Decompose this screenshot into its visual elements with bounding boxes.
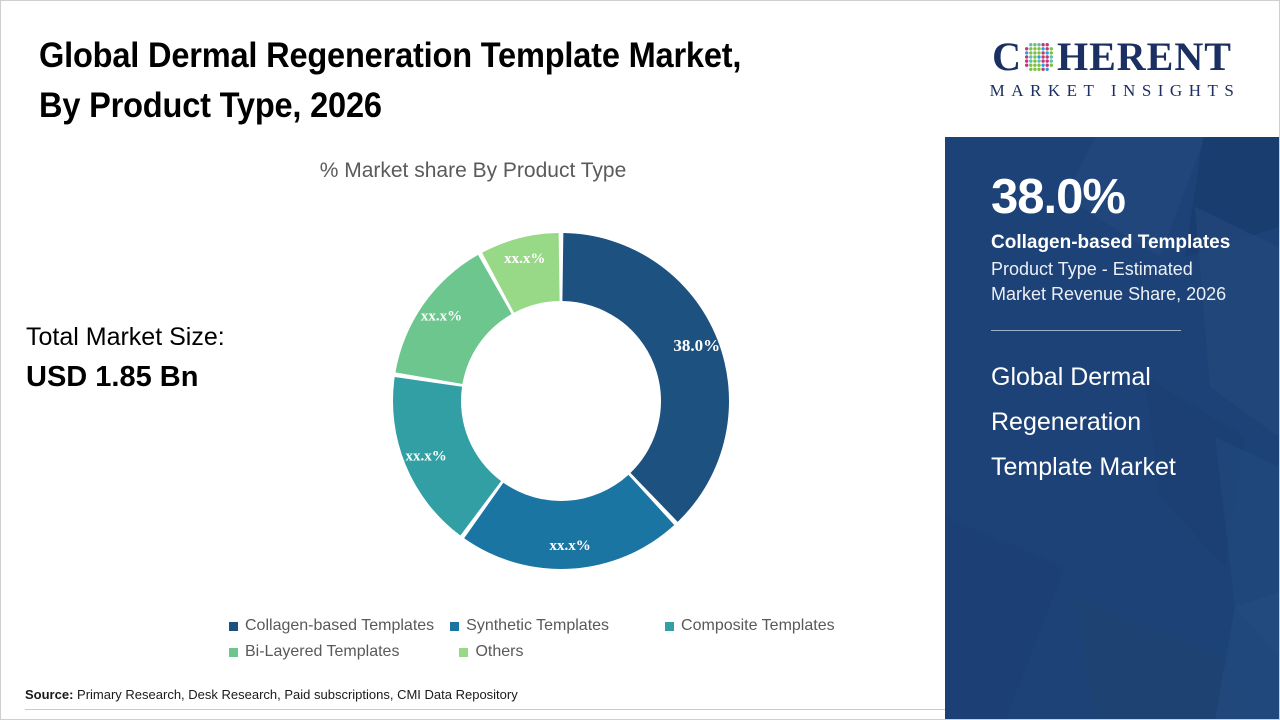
globe-icon bbox=[1022, 40, 1056, 74]
legend-swatch-icon bbox=[665, 622, 674, 631]
brand-name-rest: HERENT bbox=[1057, 37, 1232, 77]
legend-swatch-icon bbox=[229, 622, 238, 631]
donut-slice[interactable] bbox=[562, 233, 729, 522]
legend-row-1: Collagen-based Templates Synthetic Templ… bbox=[229, 617, 909, 635]
source-text: Primary Research, Desk Research, Paid su… bbox=[73, 687, 517, 702]
legend-label: Synthetic Templates bbox=[466, 617, 609, 635]
chart-legend: Collagen-based Templates Synthetic Templ… bbox=[229, 617, 909, 669]
legend-item-composite-templates[interactable]: Composite Templates bbox=[665, 617, 835, 635]
total-market-size-label: Total Market Size: bbox=[26, 323, 225, 352]
donut-slice-label: 38.0% bbox=[673, 336, 720, 355]
panel-percentage: 38.0% bbox=[991, 173, 1247, 222]
legend-item-synthetic-templates[interactable]: Synthetic Templates bbox=[450, 617, 609, 635]
highlight-panel: 38.0% Collagen-based Templates Product T… bbox=[945, 137, 1279, 719]
brand-tagline: MARKET INSIGHTS bbox=[984, 81, 1241, 101]
legend-swatch-icon bbox=[459, 648, 468, 657]
source-note: Source: Primary Research, Desk Research,… bbox=[25, 687, 945, 702]
legend-label: Composite Templates bbox=[681, 617, 835, 635]
side-panel: C HERENT MARKET INSIGHTS 38.0 bbox=[945, 1, 1279, 719]
legend-label: Collagen-based Templates bbox=[245, 617, 434, 635]
legend-row-2: Bi-Layered Templates Others bbox=[229, 643, 909, 661]
chart-subtitle: % Market share By Product Type bbox=[1, 159, 945, 183]
legend-label: Bi-Layered Templates bbox=[245, 643, 399, 661]
donut-chart: 38.0%xx.x%xx.x%xx.x%xx.x% bbox=[391, 231, 731, 571]
panel-market-name: Global Dermal Regeneration Template Mark… bbox=[991, 355, 1247, 490]
donut-slice-label: xx.x% bbox=[405, 448, 446, 464]
donut-chart-svg: 38.0%xx.x%xx.x%xx.x%xx.x% bbox=[391, 231, 731, 571]
panel-description: Product Type - Estimated Market Revenue … bbox=[991, 257, 1247, 308]
donut-slice-label: xx.x% bbox=[550, 538, 591, 554]
legend-item-collagen-based-templates[interactable]: Collagen-based Templates bbox=[229, 617, 434, 635]
brand-name-c: C bbox=[992, 37, 1022, 77]
page-title: Global Dermal Regeneration Template Mark… bbox=[39, 31, 839, 130]
donut-slice[interactable] bbox=[464, 475, 674, 569]
chart-area: Global Dermal Regeneration Template Mark… bbox=[1, 1, 945, 719]
brand-logo: C HERENT MARKET INSIGHTS bbox=[945, 1, 1279, 137]
panel-content: 38.0% Collagen-based Templates Product T… bbox=[945, 137, 1279, 490]
donut-slices bbox=[393, 233, 729, 569]
legend-swatch-icon bbox=[450, 622, 459, 631]
panel-divider bbox=[991, 330, 1181, 331]
bottom-divider bbox=[25, 709, 945, 710]
legend-swatch-icon bbox=[229, 648, 238, 657]
donut-slice-label: xx.x% bbox=[421, 308, 462, 324]
page-title-line2: By Product Type, 2026 bbox=[39, 81, 839, 131]
donut-slice-label: xx.x% bbox=[504, 251, 545, 267]
brand-name: C HERENT bbox=[992, 37, 1232, 77]
total-market-size-value: USD 1.85 Bn bbox=[26, 361, 198, 394]
page-title-line1: Global Dermal Regeneration Template Mark… bbox=[39, 31, 839, 81]
legend-label: Others bbox=[475, 643, 523, 661]
legend-item-others[interactable]: Others bbox=[459, 643, 523, 661]
panel-segment-name: Collagen-based Templates bbox=[991, 231, 1247, 255]
legend-item-bi-layered-templates[interactable]: Bi-Layered Templates bbox=[229, 643, 399, 661]
source-label: Source: bbox=[25, 687, 73, 702]
infographic-page: Global Dermal Regeneration Template Mark… bbox=[0, 0, 1280, 720]
